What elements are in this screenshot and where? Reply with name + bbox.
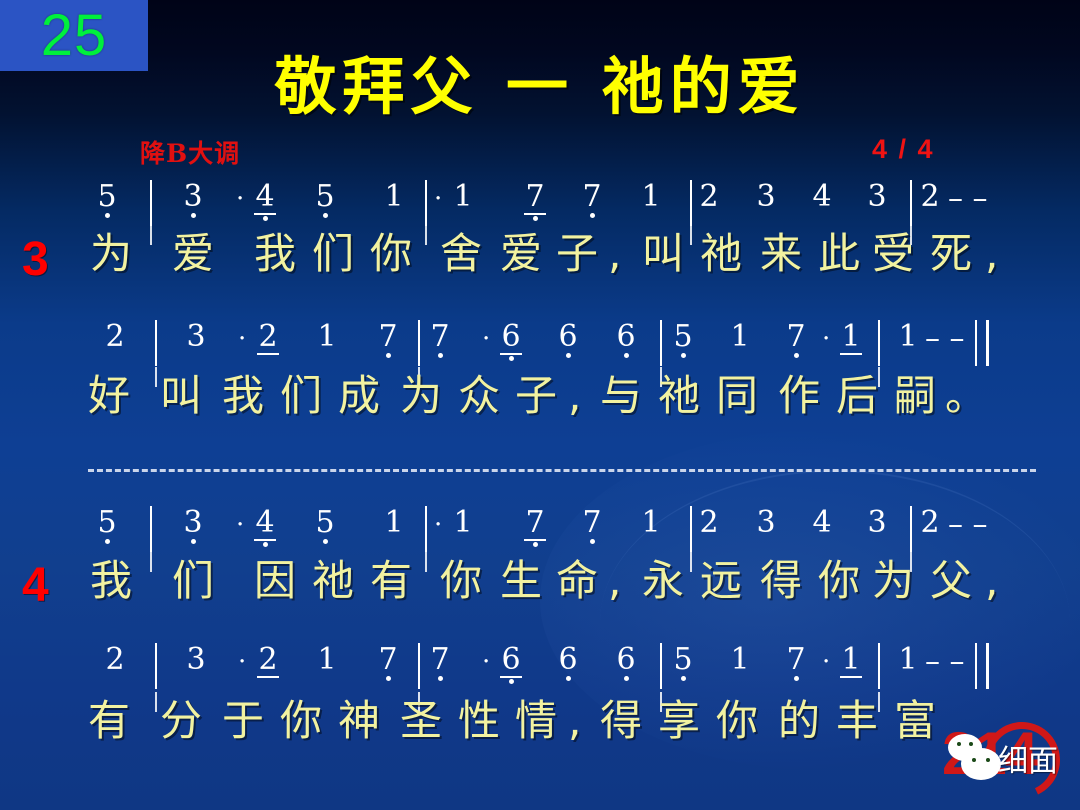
note-digit: 3 bbox=[755, 508, 777, 538]
barline bbox=[425, 506, 427, 552]
note: 6 bbox=[557, 645, 579, 681]
barline bbox=[418, 320, 420, 366]
barline bbox=[660, 643, 662, 689]
note: 1 bbox=[897, 322, 919, 358]
note: 3 bbox=[182, 182, 204, 218]
phrase-tick bbox=[150, 225, 152, 245]
note: 6 bbox=[500, 322, 522, 361]
note-digit: 3 bbox=[182, 182, 204, 212]
note: 1 bbox=[840, 645, 862, 684]
note: 7 bbox=[524, 182, 546, 221]
lyric-char: 你 bbox=[280, 700, 322, 742]
note: 4 bbox=[254, 182, 276, 221]
lyric-char: 的 bbox=[778, 700, 820, 742]
note-digit: 4 bbox=[811, 182, 833, 212]
note: 7 bbox=[785, 645, 807, 681]
lyric-row: 我们因祂有你生命,永远得你为父, bbox=[0, 560, 1080, 620]
lyric-char: , bbox=[985, 560, 998, 602]
augmentation-dot: · bbox=[822, 647, 830, 677]
lyric-char: 生 bbox=[500, 560, 542, 602]
wechat-eye-1 bbox=[957, 742, 961, 746]
notation-row: ···23217766651711– – bbox=[0, 322, 1080, 374]
note-digit: 1 bbox=[383, 182, 405, 212]
note: 1 bbox=[452, 508, 474, 544]
note: 7 bbox=[785, 322, 807, 358]
lyric-char: 们 bbox=[172, 560, 214, 602]
note-digit: 6 bbox=[557, 645, 579, 675]
lyric-char: 来 bbox=[760, 233, 802, 275]
lyric-char: 圣 bbox=[400, 700, 442, 742]
phrase-tick bbox=[155, 367, 157, 387]
note: 1 bbox=[383, 182, 405, 218]
lyric-char: , bbox=[568, 700, 581, 742]
note: 7 bbox=[429, 322, 451, 358]
lyric-char: 同 bbox=[716, 375, 758, 417]
note-digit: 1 bbox=[897, 322, 919, 352]
lyric-char: 永 bbox=[642, 560, 684, 602]
watermark: 214 细面 bbox=[928, 720, 1074, 806]
augmentation-dot: · bbox=[434, 184, 442, 214]
lyric-char: 享 bbox=[658, 700, 700, 742]
notation-row: ··53451177123432– – bbox=[0, 182, 1080, 234]
lyric-char: 我 bbox=[222, 375, 264, 417]
wechat-eye-3 bbox=[972, 758, 976, 762]
lyric-char: 嗣 bbox=[894, 375, 936, 417]
lyric-char: 性 bbox=[458, 700, 500, 742]
note: 6 bbox=[557, 322, 579, 358]
verse-number: 3 bbox=[22, 236, 49, 284]
note-digit: 1 bbox=[316, 322, 338, 352]
lyric-char: 得 bbox=[760, 560, 802, 602]
augmentation-dot: · bbox=[238, 647, 246, 677]
lyric-char: 爱 bbox=[500, 233, 542, 275]
note: 2 bbox=[919, 508, 941, 544]
lyric-char: 后 bbox=[836, 375, 878, 417]
note: 3 bbox=[185, 322, 207, 358]
notation-row: ··53451177123432– – bbox=[0, 508, 1080, 560]
phrase-tick bbox=[425, 225, 427, 245]
note-digit: 7 bbox=[429, 645, 451, 675]
note: 5 bbox=[314, 182, 336, 218]
note: 1 bbox=[729, 645, 751, 681]
note: 5 bbox=[672, 322, 694, 358]
note: 2 bbox=[698, 182, 720, 218]
note: 3 bbox=[185, 645, 207, 681]
note: 7 bbox=[377, 645, 399, 681]
lyric-char: 远 bbox=[700, 560, 742, 602]
lyric-char: 们 bbox=[312, 233, 354, 275]
barline bbox=[910, 506, 912, 552]
lyric-char: , bbox=[568, 375, 581, 417]
note: 3 bbox=[182, 508, 204, 544]
augmentation-dot: · bbox=[482, 647, 490, 677]
note: 4 bbox=[811, 508, 833, 544]
note: 7 bbox=[581, 182, 603, 218]
note: 3 bbox=[866, 508, 888, 544]
note-digit: 7 bbox=[377, 322, 399, 352]
notation-row: ···23217766651711– – bbox=[0, 645, 1080, 697]
note-digit: 3 bbox=[185, 322, 207, 352]
final-barline bbox=[975, 643, 989, 689]
lyric-char: , bbox=[608, 560, 621, 602]
note-digit: 3 bbox=[755, 182, 777, 212]
note: 2 bbox=[257, 645, 279, 684]
note-digit: 2 bbox=[257, 322, 279, 355]
note: 1 bbox=[897, 645, 919, 681]
lyric-char: 成 bbox=[338, 375, 380, 417]
octave-down-dot bbox=[533, 542, 538, 547]
note-digit: 5 bbox=[314, 508, 336, 538]
note-digit: 6 bbox=[615, 322, 637, 352]
augmentation-dot: · bbox=[236, 510, 244, 540]
lyric-char: 叫 bbox=[642, 233, 684, 275]
lyric-char: 众 bbox=[458, 375, 500, 417]
sustain-dashes: – – bbox=[948, 510, 988, 540]
wechat-eye-4 bbox=[986, 758, 990, 762]
note-digit: 5 bbox=[672, 322, 694, 352]
note-digit: 7 bbox=[429, 322, 451, 352]
note-digit: 1 bbox=[452, 182, 474, 212]
barline bbox=[878, 320, 880, 366]
watermark-label: 细面 bbox=[998, 736, 1058, 780]
lyric-char: 情 bbox=[515, 700, 557, 742]
lyric-char: 得 bbox=[600, 700, 642, 742]
note-digit: 2 bbox=[919, 508, 941, 538]
lyric-row: 好叫我们成为众子,与祂同作后嗣。 bbox=[0, 375, 1080, 435]
note: 1 bbox=[452, 182, 474, 218]
note: 7 bbox=[581, 508, 603, 544]
note-digit: 1 bbox=[729, 645, 751, 675]
note: 2 bbox=[104, 322, 126, 358]
note: 3 bbox=[866, 182, 888, 218]
note: 1 bbox=[729, 322, 751, 358]
note: 2 bbox=[257, 322, 279, 361]
note-digit: 7 bbox=[524, 182, 546, 215]
note: 6 bbox=[615, 645, 637, 681]
note-digit: 1 bbox=[640, 508, 662, 538]
note-digit: 2 bbox=[104, 645, 126, 675]
sustain-dashes: – – bbox=[925, 647, 965, 677]
note-digit: 1 bbox=[452, 508, 474, 538]
octave-down-dot bbox=[263, 542, 268, 547]
lyric-char: 舍 bbox=[440, 233, 482, 275]
lyric-char: 此 bbox=[818, 233, 860, 275]
note-digit: 7 bbox=[785, 322, 807, 352]
note: 5 bbox=[96, 182, 118, 218]
note-digit: 6 bbox=[500, 645, 522, 678]
phrase-tick bbox=[150, 552, 152, 572]
note-digit: 4 bbox=[254, 182, 276, 215]
lyric-char: 为 bbox=[90, 233, 132, 275]
barline bbox=[660, 320, 662, 366]
note-digit: 7 bbox=[581, 508, 603, 538]
lyric-char: 为 bbox=[872, 560, 914, 602]
phrase-tick bbox=[878, 367, 880, 387]
note: 2 bbox=[698, 508, 720, 544]
note-digit: 1 bbox=[316, 645, 338, 675]
wechat-bubble-large-icon bbox=[961, 748, 1001, 780]
note: 3 bbox=[755, 508, 777, 544]
lyric-char: 有 bbox=[88, 700, 130, 742]
note: 1 bbox=[640, 508, 662, 544]
barline bbox=[878, 643, 880, 689]
note: 3 bbox=[755, 182, 777, 218]
lyric-char: 祂 bbox=[658, 375, 700, 417]
lyric-char: 父 bbox=[930, 560, 972, 602]
lyric-char: , bbox=[608, 233, 621, 275]
note-digit: 1 bbox=[897, 645, 919, 675]
note-digit: 7 bbox=[524, 508, 546, 541]
page-title: 敬拜父 一 祂的爱 bbox=[0, 56, 1080, 118]
lyric-char: 丰 bbox=[836, 700, 878, 742]
time-signature: 4 / 4 bbox=[872, 134, 935, 165]
phrase-tick bbox=[690, 225, 692, 245]
note-digit: 1 bbox=[729, 322, 751, 352]
lyric-char: , bbox=[985, 233, 998, 275]
lyric-char: 作 bbox=[778, 375, 820, 417]
note: 1 bbox=[640, 182, 662, 218]
lyric-char: 祂 bbox=[312, 560, 354, 602]
note-digit: 5 bbox=[314, 182, 336, 212]
lyric-char: 你 bbox=[716, 700, 758, 742]
note: 1 bbox=[840, 322, 862, 361]
lyric-char: 于 bbox=[222, 700, 264, 742]
lyric-char: 叫 bbox=[160, 375, 202, 417]
lyric-char: 爱 bbox=[172, 233, 214, 275]
lyric-char: 命 bbox=[556, 560, 598, 602]
lyric-char: 与 bbox=[600, 375, 642, 417]
note-digit: 3 bbox=[866, 508, 888, 538]
octave-down-dot bbox=[509, 356, 514, 361]
note-digit: 5 bbox=[672, 645, 694, 675]
barline bbox=[155, 643, 157, 689]
note-digit: 2 bbox=[104, 322, 126, 352]
sustain-dashes: – – bbox=[925, 324, 965, 354]
lyric-char: 子 bbox=[515, 375, 557, 417]
octave-down-dot bbox=[533, 216, 538, 221]
lyric-row: 为爱我们你舍爱子,叫祂来此受死, bbox=[0, 233, 1080, 293]
lyric-char: 有 bbox=[370, 560, 412, 602]
slide-canvas: 25 敬拜父 一 祂的爱 降B大调 4 / 4 ··53451177123432… bbox=[0, 0, 1080, 810]
octave-down-dot bbox=[263, 216, 268, 221]
lyric-char: 我 bbox=[90, 560, 132, 602]
note: 7 bbox=[429, 645, 451, 681]
lyric-char: 为 bbox=[400, 375, 442, 417]
lyric-row: 有分于你神圣性情,得享你的丰富 bbox=[0, 700, 1080, 760]
barline bbox=[155, 320, 157, 366]
barline bbox=[690, 180, 692, 226]
note-digit: 2 bbox=[919, 182, 941, 212]
note: 1 bbox=[316, 645, 338, 681]
note-digit: 7 bbox=[377, 645, 399, 675]
augmentation-dot: · bbox=[822, 324, 830, 354]
lyric-char: 分 bbox=[160, 700, 202, 742]
note-digit: 1 bbox=[640, 182, 662, 212]
note: 7 bbox=[524, 508, 546, 547]
verse-number: 4 bbox=[22, 562, 49, 610]
lyric-char: 好 bbox=[88, 375, 130, 417]
barline bbox=[418, 643, 420, 689]
note: 5 bbox=[314, 508, 336, 544]
note: 5 bbox=[96, 508, 118, 544]
lyric-char: 你 bbox=[370, 233, 412, 275]
note-digit: 6 bbox=[615, 645, 637, 675]
barline bbox=[150, 180, 152, 226]
note-digit: 3 bbox=[185, 645, 207, 675]
note-digit: 2 bbox=[698, 182, 720, 212]
note-digit: 5 bbox=[96, 182, 118, 212]
note-digit: 7 bbox=[785, 645, 807, 675]
augmentation-dot: · bbox=[236, 184, 244, 214]
note-digit: 1 bbox=[840, 322, 862, 355]
note-digit: 5 bbox=[96, 508, 118, 538]
lyric-char: 因 bbox=[254, 560, 296, 602]
augmentation-dot: · bbox=[434, 510, 442, 540]
lyric-char: 死 bbox=[930, 233, 972, 275]
note-digit: 6 bbox=[500, 322, 522, 355]
note-digit: 3 bbox=[182, 508, 204, 538]
lyric-char: 你 bbox=[440, 560, 482, 602]
lyric-char: 祂 bbox=[700, 233, 742, 275]
note: 4 bbox=[254, 508, 276, 547]
lyric-char: 受 bbox=[872, 233, 914, 275]
augmentation-dot: · bbox=[238, 324, 246, 354]
note-digit: 1 bbox=[840, 645, 862, 678]
note-digit: 4 bbox=[811, 508, 833, 538]
sustain-dashes: – – bbox=[948, 184, 988, 214]
barline bbox=[150, 506, 152, 552]
lyric-char: 子 bbox=[556, 233, 598, 275]
note-digit: 4 bbox=[254, 508, 276, 541]
note: 2 bbox=[104, 645, 126, 681]
lyric-char: 。 bbox=[945, 375, 987, 417]
note: 6 bbox=[615, 322, 637, 358]
note: 2 bbox=[919, 182, 941, 218]
note-digit: 1 bbox=[383, 508, 405, 538]
note-digit: 2 bbox=[257, 645, 279, 678]
phrase-tick bbox=[878, 692, 880, 712]
note-digit: 2 bbox=[698, 508, 720, 538]
augmentation-dot: · bbox=[482, 324, 490, 354]
lyric-char: 我 bbox=[254, 233, 296, 275]
phrase-tick bbox=[155, 692, 157, 712]
barline bbox=[690, 506, 692, 552]
note-digit: 3 bbox=[866, 182, 888, 212]
phrase-tick bbox=[690, 552, 692, 572]
lyric-char: 你 bbox=[818, 560, 860, 602]
note: 1 bbox=[383, 508, 405, 544]
octave-down-dot bbox=[509, 679, 514, 684]
barline bbox=[425, 180, 427, 226]
wechat-eye-2 bbox=[969, 742, 973, 746]
lyric-char: 神 bbox=[338, 700, 380, 742]
note-digit: 7 bbox=[581, 182, 603, 212]
note: 1 bbox=[316, 322, 338, 358]
note: 4 bbox=[811, 182, 833, 218]
barline bbox=[910, 180, 912, 226]
note: 5 bbox=[672, 645, 694, 681]
note: 7 bbox=[377, 322, 399, 358]
lyric-char: 们 bbox=[280, 375, 322, 417]
note-digit: 6 bbox=[557, 322, 579, 352]
note: 6 bbox=[500, 645, 522, 684]
final-barline bbox=[975, 320, 989, 366]
phrase-tick bbox=[425, 552, 427, 572]
section-divider bbox=[88, 469, 1036, 472]
key-signature: 降B大调 bbox=[140, 134, 240, 170]
